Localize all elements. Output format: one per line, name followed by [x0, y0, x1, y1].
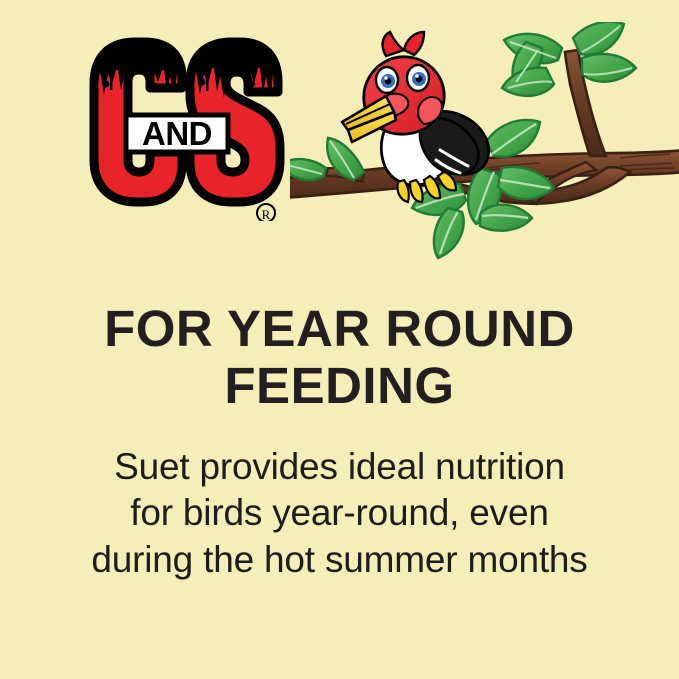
- brand-logo-c-and-s: AND R: [86, 36, 286, 221]
- logo-and-box: AND: [126, 115, 228, 152]
- svg-text:R: R: [262, 207, 271, 221]
- headline-line-2: FEEDING: [0, 357, 679, 414]
- bird-on-branch-illustration: [290, 22, 679, 272]
- bird-eye-right: [407, 65, 429, 91]
- body-copy-line-1: Suet provides ideal nutrition: [0, 444, 679, 490]
- body-copy-line-3: during the hot summer months: [0, 537, 679, 583]
- body-copy: Suet provides ideal nutrition for birds …: [0, 444, 679, 583]
- product-feature-poster: AND R: [0, 0, 679, 679]
- registered-trademark-icon: R: [257, 204, 275, 221]
- poster-header-band: AND R: [0, 0, 679, 280]
- body-copy-line-2: for birds year-round, even: [0, 490, 679, 536]
- headline-line-1: FOR YEAR ROUND: [0, 300, 679, 357]
- bird-eye-left: [376, 67, 398, 93]
- headline: FOR YEAR ROUND FEEDING: [0, 300, 679, 414]
- logo-and-text: AND: [142, 115, 212, 152]
